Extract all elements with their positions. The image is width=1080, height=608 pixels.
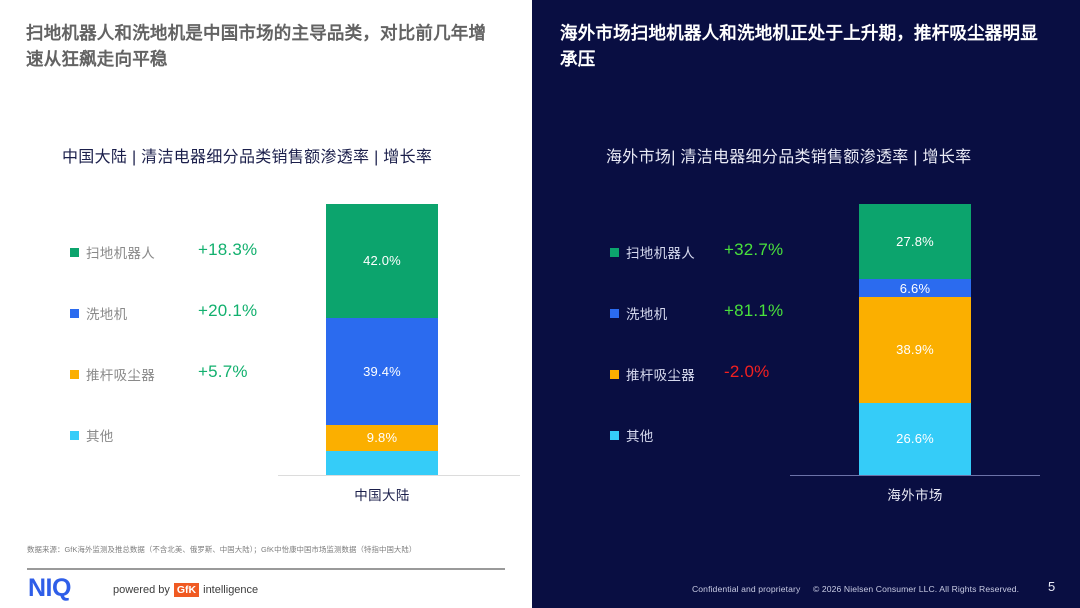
bar-segment-wet-dry-vacuum[interactable]: 39.4% <box>326 318 438 425</box>
legend-label-wet-dry-vacuum-overseas: 洗地机 <box>626 303 667 323</box>
right-stacked-bar[interactable]: 27.8% 6.6% 38.9% 26.6% <box>859 204 971 475</box>
legend-label-robot-vacuum: 扫地机器人 <box>86 242 155 262</box>
bar-segment-wet-dry-vacuum-overseas[interactable]: 6.6% <box>859 279 971 297</box>
left-slide-title: 扫地机器人和洗地机是中国市场的主导品类，对比前几年增速从狂飙走向平稳 <box>26 20 496 72</box>
legend-swatch-stick-vacuum-overseas <box>610 370 619 379</box>
left-footnote: 数据来源：GfK海外监测及推总数据（不含北美、俄罗斯、中国大陆）；GfK中怡康中… <box>27 544 497 555</box>
legend-swatch-robot-vacuum-overseas <box>610 248 619 257</box>
left-panel: 扫地机器人和洗地机是中国市场的主导品类，对比前几年增速从狂飙走向平稳 中国大陆 … <box>0 0 532 568</box>
bar-segment-other[interactable] <box>326 451 438 475</box>
legend-label-robot-vacuum-overseas: 扫地机器人 <box>626 242 695 262</box>
legend-swatch-stick-vacuum <box>70 370 79 379</box>
intelligence-text: intelligence <box>203 584 258 596</box>
legend-item-stick-vacuum-overseas[interactable]: 推杆吸尘器 <box>610 364 695 384</box>
bar-segment-robot-vacuum-overseas[interactable]: 27.8% <box>859 204 971 279</box>
footer-divider-rule <box>27 568 505 570</box>
bar-segment-stick-vacuum[interactable]: 9.8% <box>326 425 438 452</box>
copyright-notice: © 2026 Nielsen Consumer LLC. All Rights … <box>813 584 1019 594</box>
legend-label-stick-vacuum-overseas: 推杆吸尘器 <box>626 364 695 384</box>
niq-logo: NIQ <box>28 576 71 601</box>
legend-growth-robot-vacuum: +18.3% <box>198 240 257 260</box>
right-chart-subtitle: 海外市场| 清洁电器细分品类销售额渗透率 | 增长率 <box>606 143 971 167</box>
legend-item-other[interactable]: 其他 <box>70 425 114 445</box>
right-panel: 海外市场扫地机器人和洗地机正处于上升期，推杆吸尘器明显承压 海外市场| 清洁电器… <box>532 0 1080 568</box>
left-chart-subtitle: 中国大陆 | 清洁电器细分品类销售额渗透率 | 增长率 <box>62 143 432 167</box>
legend-item-wet-dry-vacuum[interactable]: 洗地机 <box>70 303 127 323</box>
legend-swatch-robot-vacuum <box>70 248 79 257</box>
legend-item-wet-dry-vacuum-overseas[interactable]: 洗地机 <box>610 303 667 323</box>
legend-label-wet-dry-vacuum: 洗地机 <box>86 303 127 323</box>
legend-swatch-wet-dry-vacuum <box>70 309 79 318</box>
page-number: 5 <box>1048 579 1055 594</box>
legend-swatch-other <box>70 431 79 440</box>
legend-growth-robot-vacuum-overseas: +32.7% <box>724 240 783 260</box>
left-axis-line <box>278 475 520 476</box>
bar-segment-stick-vacuum-overseas[interactable]: 38.9% <box>859 297 971 402</box>
legend-growth-wet-dry-vacuum-overseas: +81.1% <box>724 301 783 321</box>
legend-growth-stick-vacuum-overseas: -2.0% <box>724 362 769 382</box>
legend-swatch-other-overseas <box>610 431 619 440</box>
legend-item-stick-vacuum[interactable]: 推杆吸尘器 <box>70 364 155 384</box>
bar-segment-robot-vacuum[interactable]: 42.0% <box>326 204 438 318</box>
legend-growth-stick-vacuum: +5.7% <box>198 362 248 382</box>
left-category-label: 中国大陆 <box>326 484 438 504</box>
right-axis-line <box>790 475 1040 476</box>
gfk-logo: GfK <box>174 583 199 597</box>
legend-item-robot-vacuum-overseas[interactable]: 扫地机器人 <box>610 242 695 262</box>
bar-segment-other-overseas[interactable]: 26.6% <box>859 403 971 475</box>
legend-growth-wet-dry-vacuum: +20.1% <box>198 301 257 321</box>
legend-label-other-overseas: 其他 <box>626 425 654 445</box>
legend-item-robot-vacuum[interactable]: 扫地机器人 <box>70 242 155 262</box>
left-stacked-bar[interactable]: 42.0% 39.4% 9.8% <box>326 204 438 475</box>
powered-by-gfk: powered by GfK intelligence <box>113 583 258 597</box>
legend-label-other: 其他 <box>86 425 114 445</box>
legend-item-other-overseas[interactable]: 其他 <box>610 425 654 445</box>
legend-swatch-wet-dry-vacuum-overseas <box>610 309 619 318</box>
footer-left <box>0 568 532 608</box>
right-category-label: 海外市场 <box>859 484 971 504</box>
right-slide-title: 海外市场扫地机器人和洗地机正处于上升期，推杆吸尘器明显承压 <box>560 20 1040 72</box>
confidential-notice: Confidential and proprietary <box>692 584 800 594</box>
legend-label-stick-vacuum: 推杆吸尘器 <box>86 364 155 384</box>
slide: 扫地机器人和洗地机是中国市场的主导品类，对比前几年增速从狂飙走向平稳 中国大陆 … <box>0 0 1080 608</box>
powered-by-text: powered by <box>113 584 170 596</box>
